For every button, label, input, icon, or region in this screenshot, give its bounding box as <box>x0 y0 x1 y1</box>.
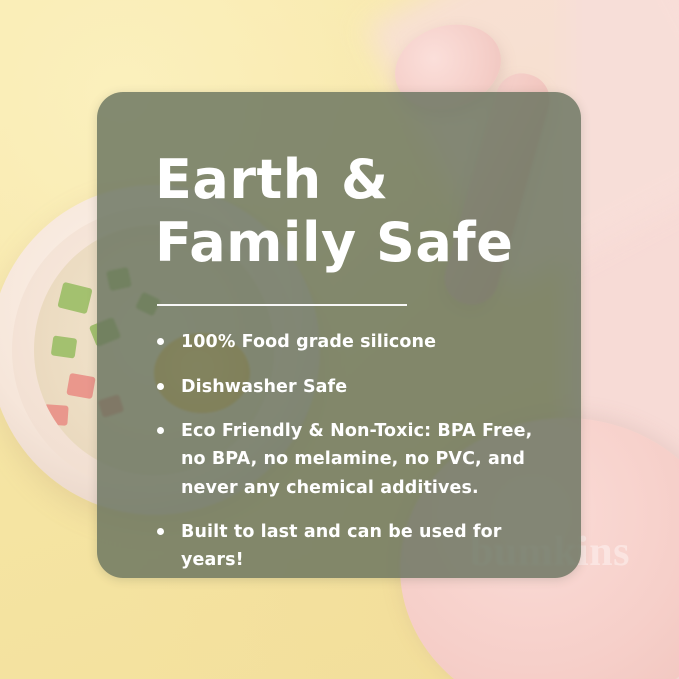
list-item: Built to last and can be used for years! <box>155 518 537 575</box>
food-kiwi-piece <box>57 282 92 314</box>
overlay-card: Earth & Family Safe 100% Food grade sili… <box>97 92 581 578</box>
list-item: Eco Friendly & Non-Toxic: BPA Free, no B… <box>155 417 537 502</box>
food-melon-piece <box>43 404 68 426</box>
product-image: bumkins Earth & Family Safe 100% Food gr… <box>0 0 679 679</box>
overlay-feature-list: 100% Food grade silicone Dishwasher Safe… <box>155 328 537 574</box>
list-item: Dishwasher Safe <box>155 373 537 401</box>
overlay-title: Earth & Family Safe <box>155 148 537 274</box>
food-kiwi-piece <box>51 335 78 358</box>
list-item: 100% Food grade silicone <box>155 328 537 356</box>
food-melon-piece <box>66 373 95 399</box>
overlay-divider <box>157 304 407 306</box>
